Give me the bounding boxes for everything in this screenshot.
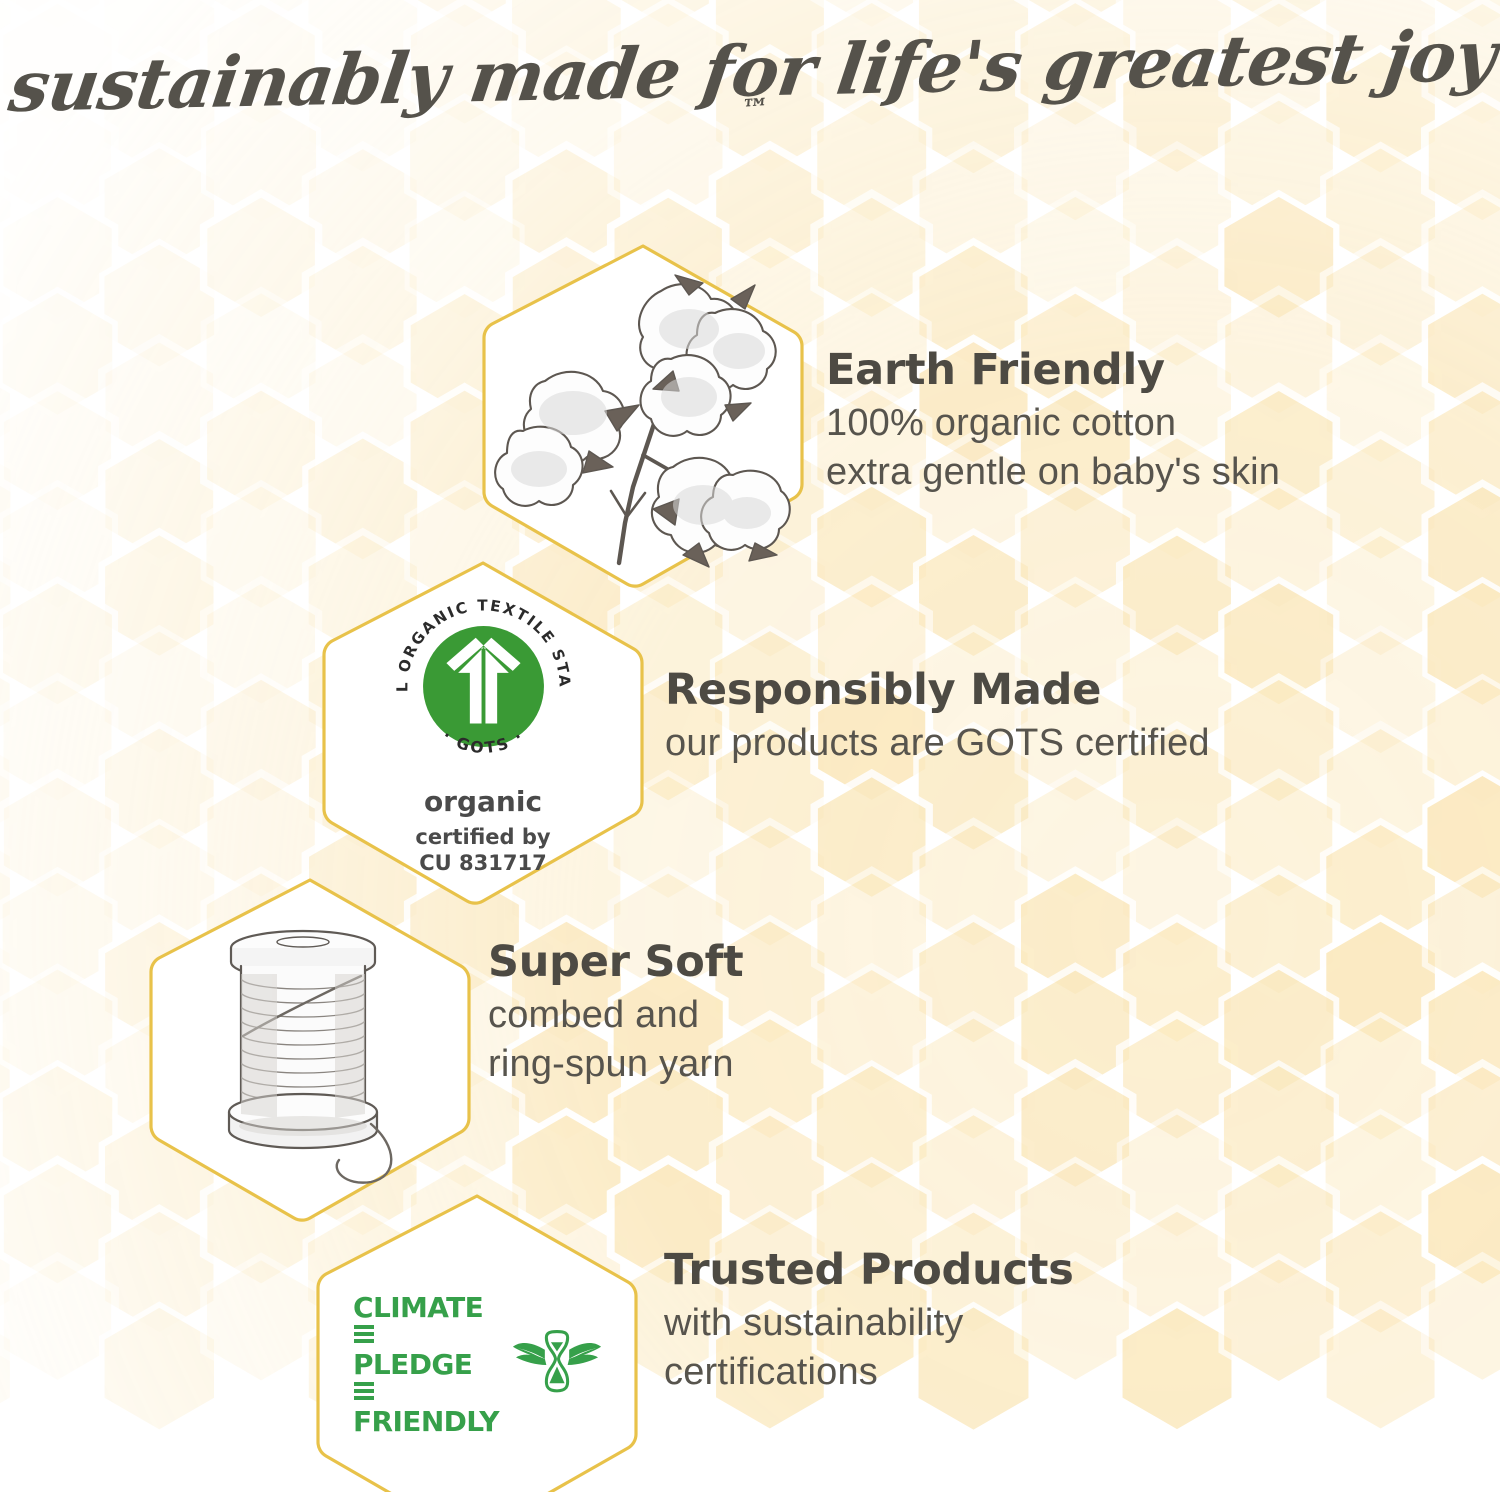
climate-pledge-wordmark: CLIMATE PLEDGE FRIENDLY xyxy=(353,1294,499,1437)
feature-line: certifications xyxy=(664,1348,1074,1397)
hex-card-cotton xyxy=(478,240,808,590)
cpf-line-3: FRIENDLY xyxy=(353,1408,499,1437)
gots-caption-certified-by: certified by xyxy=(358,825,608,849)
cotton-branch-sketch-icon xyxy=(478,240,808,590)
feature-title: Trusted Products xyxy=(664,1248,1074,1293)
hex-card-climate-pledge: CLIMATE PLEDGE FRIENDLY xyxy=(312,1190,642,1492)
feature-line: combed and xyxy=(488,991,743,1040)
feature-title: Super Soft xyxy=(488,940,743,985)
feature-line: ring-spun yarn xyxy=(488,1040,743,1089)
feature-text-super-soft: Super Soft combed and ring-spun yarn xyxy=(488,940,743,1088)
cpf-line-2: PLEDGE xyxy=(353,1351,499,1380)
cpf-bars-icon xyxy=(354,1382,374,1404)
cpf-bars-icon xyxy=(354,1325,374,1347)
gots-caption-organic: organic xyxy=(358,785,608,818)
feature-line: our products are GOTS certified xyxy=(665,719,1210,768)
cpf-line-1: CLIMATE xyxy=(353,1294,499,1323)
feature-title: Earth Friendly xyxy=(826,348,1280,393)
feature-text-earth-friendly: Earth Friendly 100% organic cotton extra… xyxy=(826,348,1280,496)
gots-certification-logo-icon: GLOBAL ORGANIC TEXTILE STANDARD · GOTS ·… xyxy=(358,589,608,854)
feature-text-responsibly-made: Responsibly Made our products are GOTS c… xyxy=(665,668,1210,768)
thread-spool-sketch-icon xyxy=(145,874,475,1224)
infographic-canvas: sustainably made for life's greatest joy… xyxy=(0,0,1500,1492)
gots-seal-icon: GLOBAL ORGANIC TEXTILE STANDARD · GOTS · xyxy=(386,589,581,784)
feature-line: 100% organic cotton xyxy=(826,399,1280,448)
feature-text-trusted-products: Trusted Products with sustainability cer… xyxy=(664,1248,1074,1396)
trademark-symbol: ™ xyxy=(739,95,769,124)
winged-hourglass-icon xyxy=(511,1327,603,1403)
feature-line: extra gentle on baby's skin xyxy=(826,448,1280,497)
feature-title: Responsibly Made xyxy=(665,668,1210,713)
climate-pledge-friendly-logo-icon: CLIMATE PLEDGE FRIENDLY xyxy=(353,1317,601,1413)
hex-card-spool xyxy=(145,874,475,1224)
hex-card-gots: GLOBAL ORGANIC TEXTILE STANDARD · GOTS ·… xyxy=(318,557,648,907)
gots-caption-code: CU 831717 xyxy=(358,851,608,875)
page-title: sustainably made for life's greatest joy… xyxy=(0,52,1500,154)
feature-line: with sustainability xyxy=(664,1299,1074,1348)
